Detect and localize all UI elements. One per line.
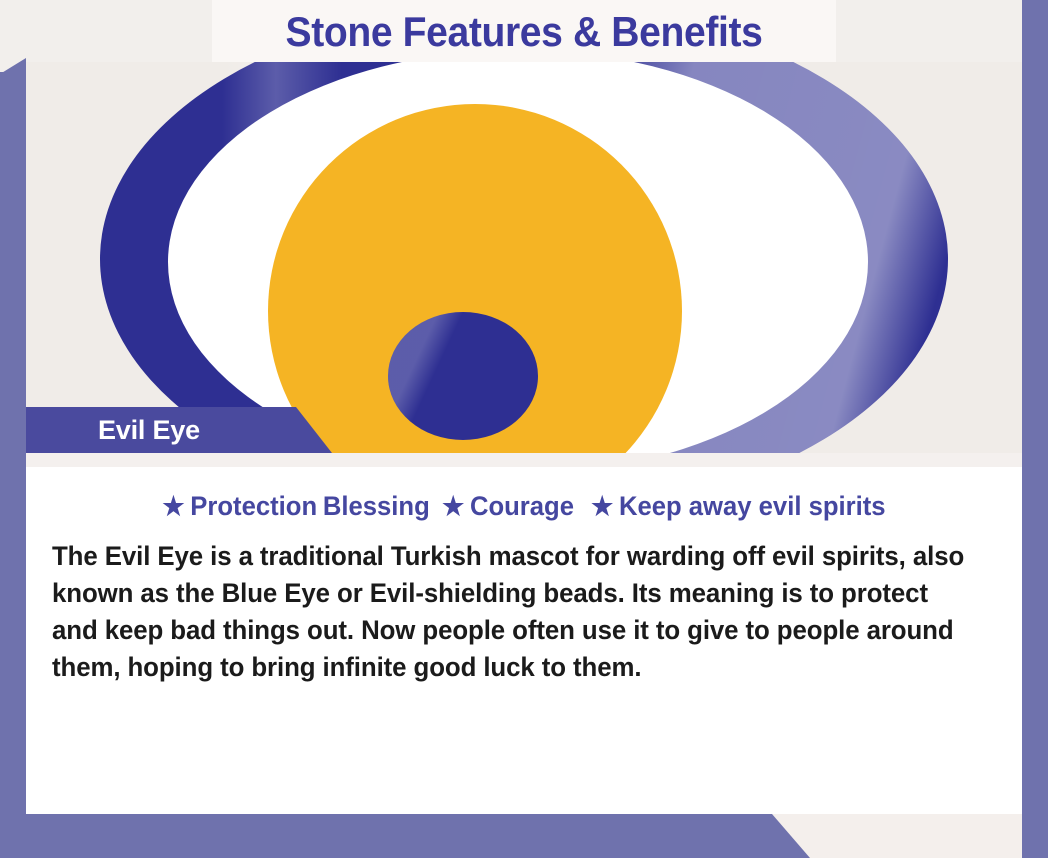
content-card: Evil Eye ★ Protection Blessing ★ Courage (26, 62, 1022, 814)
hero-name-banner: Evil Eye (26, 407, 332, 453)
hero-image: Evil Eye (26, 62, 1022, 453)
feature-item-protection: ★ Protection (162, 491, 317, 522)
content-body: ★ Protection Blessing ★ Courage ★ Keep a… (26, 467, 1022, 814)
infographic-page: Stone Features & Benefits Evil Eye ★ P (0, 0, 1048, 858)
hero-underline-strip (26, 453, 1022, 467)
left-frame-rail (0, 58, 26, 858)
feature-label-protection: Protection (190, 491, 317, 522)
feature-item-blessing: Blessing (323, 491, 430, 522)
eye-pupil-highlight (388, 312, 538, 440)
feature-label-keep-away-evil-spirits: Keep away evil spirits (619, 491, 886, 522)
description-paragraph: The Evil Eye is a traditional Turkish ma… (52, 538, 972, 686)
feature-list: ★ Protection Blessing ★ Courage ★ Keep a… (76, 491, 973, 522)
page-title: Stone Features & Benefits (37, 8, 1012, 56)
feature-label-courage: Courage (470, 491, 574, 522)
star-icon: ★ (442, 493, 464, 519)
star-icon: ★ (162, 493, 184, 519)
hero-name-label: Evil Eye (98, 415, 200, 446)
star-icon: ★ (591, 493, 613, 519)
feature-item-keep-away-evil-spirits: ★ Keep away evil spirits (591, 491, 885, 522)
feature-item-courage: ★ Courage (442, 491, 574, 522)
right-frame-rail (1022, 0, 1048, 858)
feature-label-blessing: Blessing (323, 491, 430, 522)
